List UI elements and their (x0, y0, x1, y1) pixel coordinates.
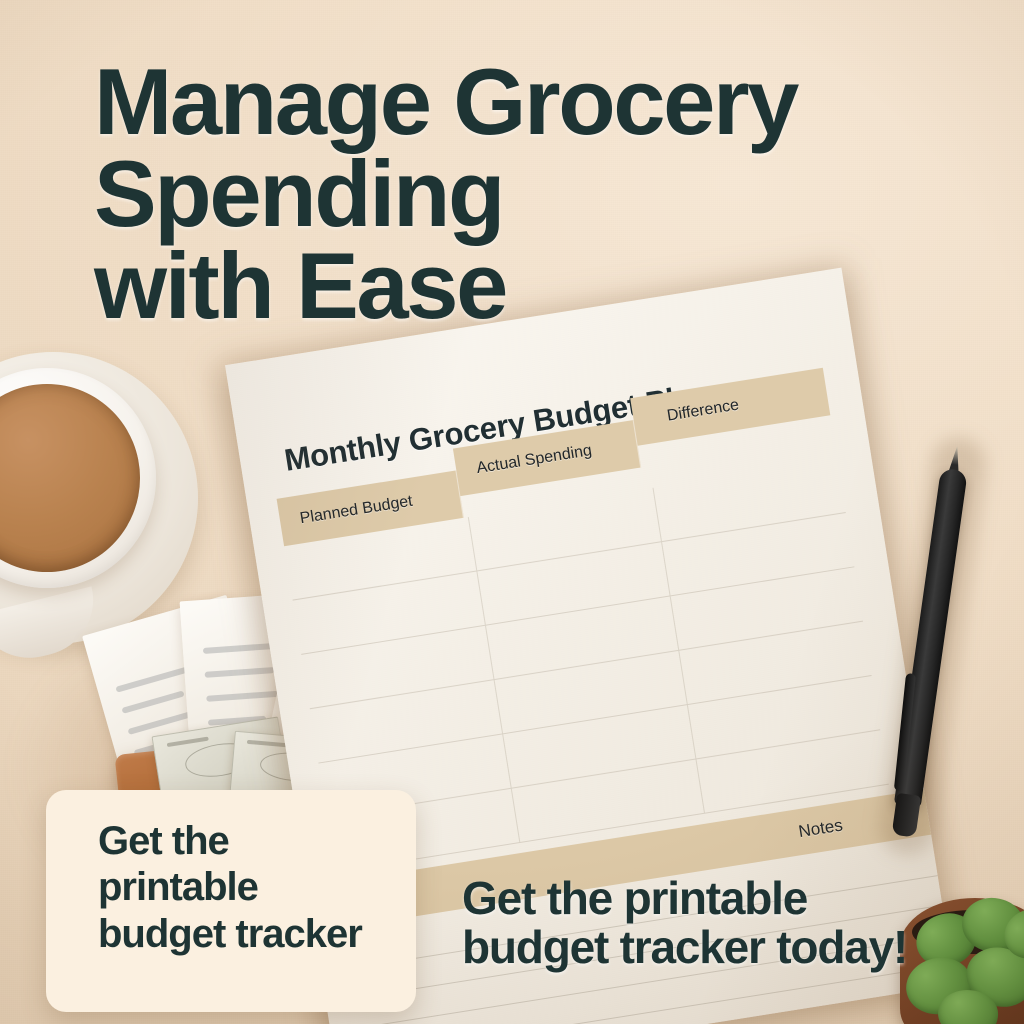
headline-line-3: with Ease (94, 240, 914, 332)
cta-card-line-3: budget tracker (98, 911, 390, 957)
scene: Monthly Grocery Budget Planner Planned B… (0, 0, 1024, 1024)
headline-line-1: Manage Grocery (94, 56, 914, 148)
cta-overlay-text: Get the printable budget tracker today! (462, 874, 982, 972)
cta-overlay-line-1: Get the printable (462, 874, 982, 923)
cta-card-line-2: printable (98, 864, 390, 910)
cta-card-line-1: Get the (98, 818, 390, 864)
cta-card[interactable]: Get the printable budget tracker (46, 790, 416, 1012)
cta-overlay-line-2: budget tracker today! (462, 923, 982, 972)
headline-line-2: Spending (94, 148, 914, 240)
page-title: Manage Grocery Spending with Ease (94, 56, 914, 332)
cta-card-text: Get the printable budget tracker (98, 818, 390, 957)
